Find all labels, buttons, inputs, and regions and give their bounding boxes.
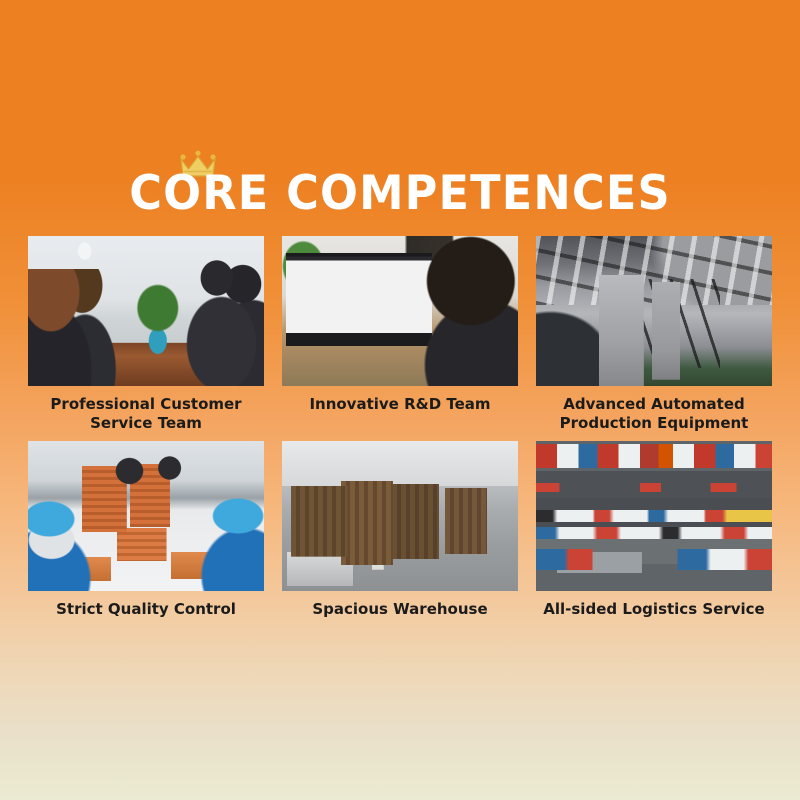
all-sided-logistics-service-image <box>536 441 772 591</box>
innovative-rd-team-image <box>282 236 518 386</box>
competence-card-advanced-automated-production-equipment[interactable]: Advanced Automated Production Equipment <box>536 236 772 433</box>
all-sided-logistics-service-caption: All-sided Logistics Service <box>536 591 772 619</box>
spacious-warehouse-caption: Spacious Warehouse <box>282 591 518 619</box>
competence-card-innovative-rd-team[interactable]: Innovative R&D Team <box>282 236 518 433</box>
core-competences-banner: CORE COMPETENCES Professional Customer S… <box>0 0 800 800</box>
competence-grid: Professional Customer Service Team Innov… <box>28 236 772 619</box>
spacious-warehouse-image <box>282 441 518 591</box>
professional-customer-service-team-image <box>28 236 264 386</box>
professional-customer-service-team-caption: Professional Customer Service Team <box>28 386 264 433</box>
competence-card-spacious-warehouse[interactable]: Spacious Warehouse <box>282 441 518 619</box>
competence-card-professional-customer-service-team[interactable]: Professional Customer Service Team <box>28 236 264 433</box>
title-block: CORE COMPETENCES <box>0 150 800 224</box>
competence-card-strict-quality-control[interactable]: Strict Quality Control <box>28 441 264 619</box>
strict-quality-control-image <box>28 441 264 591</box>
strict-quality-control-caption: Strict Quality Control <box>28 591 264 619</box>
page-title: CORE COMPETENCES <box>20 150 780 224</box>
advanced-automated-production-equipment-image <box>536 236 772 386</box>
innovative-rd-team-caption: Innovative R&D Team <box>282 386 518 414</box>
advanced-automated-production-equipment-caption: Advanced Automated Production Equipment <box>536 386 772 433</box>
competence-card-all-sided-logistics-service[interactable]: All-sided Logistics Service <box>536 441 772 619</box>
